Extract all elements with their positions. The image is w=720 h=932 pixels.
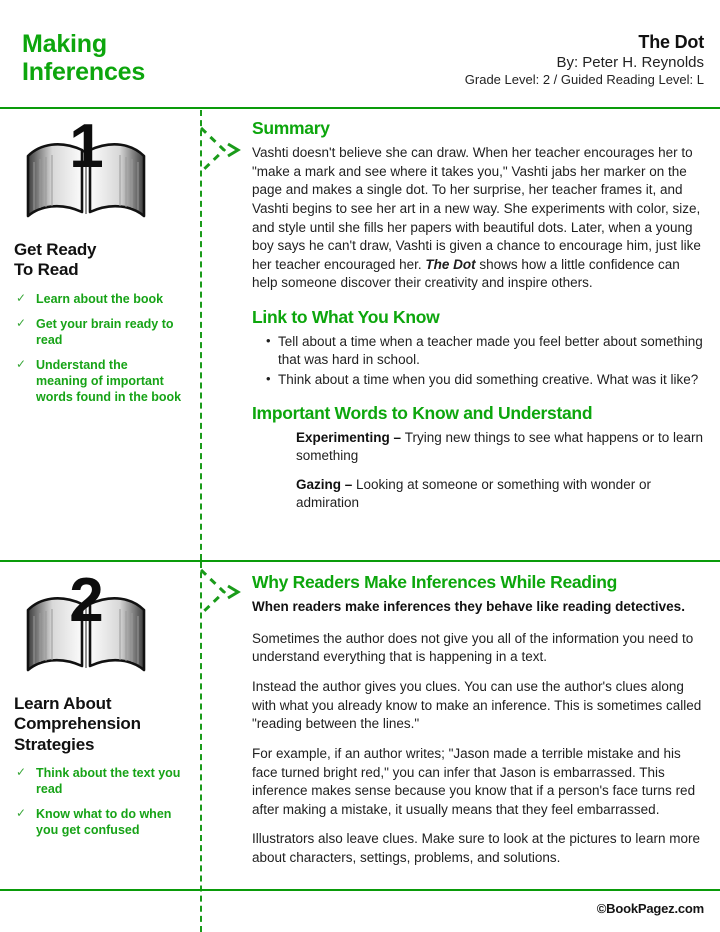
worksheet-title: Making Inferences	[22, 30, 145, 86]
summary-book-title: The Dot	[425, 257, 475, 272]
strategy-paragraph: Sometimes the author does not give you a…	[252, 630, 704, 667]
goal-list-item: ✓ Get your brain ready to read	[14, 316, 182, 348]
open-book-icon: 1	[20, 122, 152, 226]
worksheet-title-line1: Making	[22, 30, 145, 58]
section1-body-column: Summary Vashti doesn't believe she can d…	[252, 108, 704, 524]
section2-goal-list: ✓ Think about the text you read ✓ Know w…	[14, 765, 182, 838]
open-book-icon: 2	[20, 576, 152, 680]
book-author: By: Peter H. Reynolds	[465, 54, 704, 72]
goal-list-item: ✓ Know what to do when you get confused	[14, 806, 182, 838]
section2-icon-column: 2 Learn About Comprehension Strategies ✓…	[0, 562, 196, 847]
section-number: 2	[20, 570, 152, 632]
goal-list-item: ✓ Learn about the book	[14, 291, 182, 307]
link-bullet-list: Tell about a time when a teacher made yo…	[252, 333, 704, 389]
book-title: The Dot	[465, 32, 704, 54]
book-metadata: The Dot By: Peter H. Reynolds Grade Leve…	[465, 32, 704, 88]
goal-label: Think about the text you read	[36, 766, 180, 796]
goal-list-item: ✓ Think about the text you read	[14, 765, 182, 797]
section2-title: Learn About Comprehension Strategies	[14, 694, 182, 755]
vocabulary-word: Experimenting	[296, 430, 390, 445]
section2-body-column: Why Readers Make Inferences While Readin…	[252, 562, 704, 879]
check-icon: ✓	[16, 765, 26, 780]
book-reading-level: Grade Level: 2 / Guided Reading Level: L	[465, 72, 704, 88]
goal-label: Understand the meaning of important word…	[36, 358, 181, 404]
vocabulary-item: Gazing – Looking at someone or something…	[296, 476, 704, 512]
why-readers-heading: Why Readers Make Inferences While Readin…	[252, 572, 704, 593]
summary-heading: Summary	[252, 118, 704, 139]
section1-title-line2: To Read	[14, 260, 182, 280]
goal-label: Learn about the book	[36, 292, 163, 306]
link-bullet-item: Tell about a time when a teacher made yo…	[266, 333, 704, 369]
goal-label: Know what to do when you get confused	[36, 807, 171, 837]
section-learn-about-comprehension-strategies: 2 Learn About Comprehension Strategies ✓…	[0, 562, 720, 889]
section2-title-line3: Strategies	[14, 735, 182, 755]
vocabulary-word: Gazing	[296, 477, 341, 492]
worksheet-title-line2: Inferences	[22, 58, 145, 86]
page-footer: ©BookPagez.com	[0, 893, 720, 932]
link-bullet-item: Think about a time when you did somethin…	[266, 371, 704, 389]
check-icon: ✓	[16, 316, 26, 331]
strategy-paragraph: Instead the author gives you clues. You …	[252, 678, 704, 734]
goal-list-item: ✓ Understand the meaning of important wo…	[14, 357, 182, 405]
goal-label: Get your brain ready to read	[36, 317, 174, 347]
important-words-heading: Important Words to Know and Understand	[252, 403, 704, 424]
vocabulary-dash: –	[390, 430, 405, 445]
footer-divider	[0, 889, 720, 891]
section-number: 1	[20, 116, 152, 178]
link-heading: Link to What You Know	[252, 307, 704, 328]
vocabulary-dash: –	[341, 477, 356, 492]
page-header: Making Inferences The Dot By: Peter H. R…	[0, 0, 720, 108]
vocabulary-list: Experimenting – Trying new things to see…	[252, 429, 704, 512]
section1-icon-column: 1 Get Ready To Read ✓ Learn about the bo…	[0, 108, 196, 414]
summary-paragraph: Vashti doesn't believe she can draw. Whe…	[252, 144, 704, 293]
check-icon: ✓	[16, 806, 26, 821]
copyright-credit: ©BookPagez.com	[597, 901, 704, 916]
section-get-ready-to-read: 1 Get Ready To Read ✓ Learn about the bo…	[0, 108, 720, 560]
section1-title: Get Ready To Read	[14, 240, 182, 281]
section2-title-line2: Comprehension	[14, 714, 182, 734]
check-icon: ✓	[16, 357, 26, 372]
section2-title-line1: Learn About	[14, 694, 182, 714]
strategy-paragraph: Illustrators also leave clues. Make sure…	[252, 830, 704, 867]
section1-goal-list: ✓ Learn about the book ✓ Get your brain …	[14, 291, 182, 405]
lead-statement: When readers make inferences they behave…	[252, 598, 704, 616]
strategy-paragraph: For example, if an author writes; "Jason…	[252, 745, 704, 820]
section1-title-line1: Get Ready	[14, 240, 182, 260]
check-icon: ✓	[16, 291, 26, 306]
summary-text: Vashti doesn't believe she can draw. Whe…	[252, 145, 701, 272]
vocabulary-item: Experimenting – Trying new things to see…	[296, 429, 704, 465]
worksheet-page: Making Inferences The Dot By: Peter H. R…	[0, 0, 720, 932]
